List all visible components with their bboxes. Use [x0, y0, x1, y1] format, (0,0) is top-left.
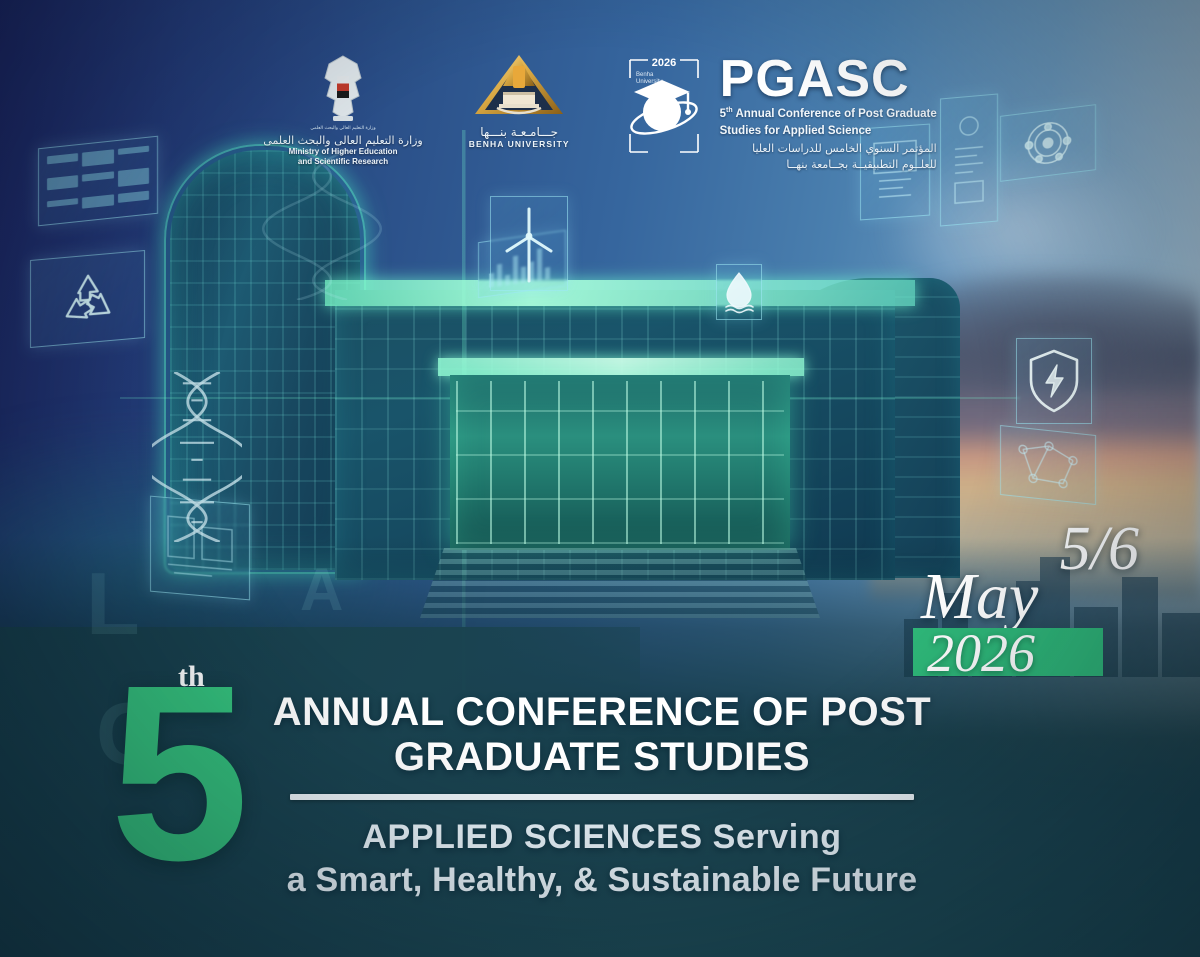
roof-light-bar — [325, 280, 915, 306]
svg-text:2026: 2026 — [651, 57, 675, 69]
conference-subtitle-line1: 5th Annual Conference of Post Graduate — [720, 106, 937, 122]
university-logo: جـــامـعـة بنـــها BENHA UNIVERSITY — [469, 52, 570, 149]
edition-suffix: th — [178, 660, 205, 694]
title-block: ANNUAL CONFERENCE OF POST GRADUATE STUDI… — [262, 690, 942, 903]
water-drop-icon — [716, 264, 762, 320]
conference-arabic-line2: للعلــوم التطبيقيــة بجــامعة بنهــا — [720, 157, 937, 172]
page-title: ANNUAL CONFERENCE OF POST GRADUATE STUDI… — [262, 690, 942, 780]
graduation-cap-globe-icon: 2026 Benha University — [616, 52, 712, 160]
conference-poster: BENHA UNIVERSITY CENTRAL LIBRARY ⚜ جامعة… — [0, 0, 1200, 957]
title-divider — [290, 794, 914, 800]
conference-logo-text: PGASC 5th Annual Conference of Post Grad… — [720, 52, 937, 172]
university-english-name: BENHA UNIVERSITY — [469, 139, 570, 149]
tagline-line-1: APPLIED SCIENCES Serving — [362, 818, 841, 856]
ministry-logo: وزارة التعليم العالي والبحث العلمي وزارة… — [263, 52, 422, 166]
shield-bolt-icon — [1016, 338, 1092, 424]
decor-letter-a: A — [300, 560, 343, 620]
conference-logo: 2026 Benha University PGASC 5th Annual C… — [616, 52, 937, 172]
ministry-english-name: Ministry of Higher Education and Scienti… — [289, 147, 398, 166]
recycle-icon — [30, 250, 145, 348]
egypt-eagle-emblem-icon — [311, 52, 375, 126]
ministry-arabic-small: وزارة التعليم العالي والبحث العلمي — [310, 126, 375, 131]
dna-helix-icon — [152, 372, 242, 542]
conference-date: 5/6 May 2026 — [905, 518, 1145, 678]
conference-arabic-line1: المؤتمر السنوي الخامس للدراسات العليا — [720, 141, 937, 156]
wind-turbine-icon — [490, 196, 568, 291]
title-line-1: ANNUAL CONFERENCE OF POST — [273, 690, 931, 734]
tagline-line-2: a Smart, Healthy, & Sustainable Future — [287, 861, 917, 899]
entrance-glass-grid — [456, 381, 784, 544]
date-month: May — [921, 564, 1038, 630]
logo-row: وزارة التعليم العالي والبحث العلمي وزارة… — [0, 52, 1200, 182]
building-entrance — [450, 375, 790, 550]
date-year: 2026 — [927, 626, 1035, 680]
svg-text:Benha: Benha — [636, 72, 654, 78]
network-nodes-icon — [1000, 425, 1096, 505]
conference-subtitle-line2: Studies for Applied Science — [720, 124, 937, 140]
university-arabic-name: جـــامـعـة بنـــها — [480, 125, 558, 139]
ministry-arabic-name: وزارة التعليم العالى والبحث العلمى — [263, 134, 422, 147]
entrance-canopy — [438, 358, 804, 376]
conference-acronym: PGASC — [720, 56, 937, 104]
title-line-2: GRADUATE STUDIES — [394, 735, 810, 779]
benha-university-pyramid-icon — [473, 52, 565, 124]
tagline: APPLIED SCIENCES Serving a Smart, Health… — [262, 816, 942, 903]
date-days: 5/6 — [1060, 518, 1139, 580]
